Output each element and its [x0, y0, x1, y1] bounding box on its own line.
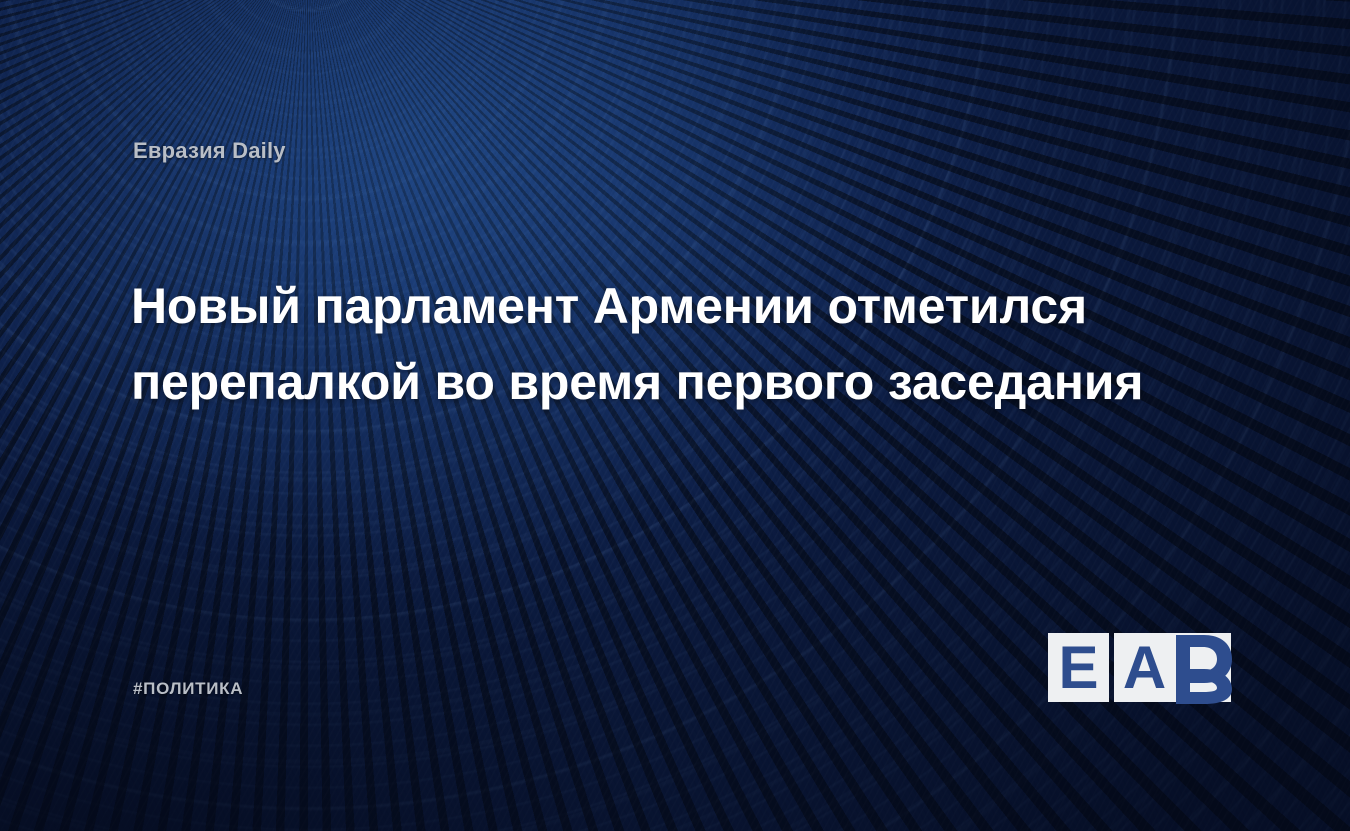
page-title: Новый парламент Армении отметился перепа… — [131, 268, 1211, 420]
category-tag[interactable]: #ПОЛИТИКА — [133, 679, 243, 699]
logo-letter-e: E — [1048, 633, 1109, 702]
logo-letter-a: A — [1114, 633, 1175, 702]
eadaily-logo[interactable]: E A — [1048, 633, 1231, 703]
brand-name: Евразия Daily — [133, 138, 286, 164]
logo-letter-d — [1170, 631, 1242, 704]
news-share-card: Евразия Daily Новый парламент Армении от… — [0, 0, 1350, 831]
card-content: Евразия Daily Новый парламент Армении от… — [0, 0, 1350, 831]
